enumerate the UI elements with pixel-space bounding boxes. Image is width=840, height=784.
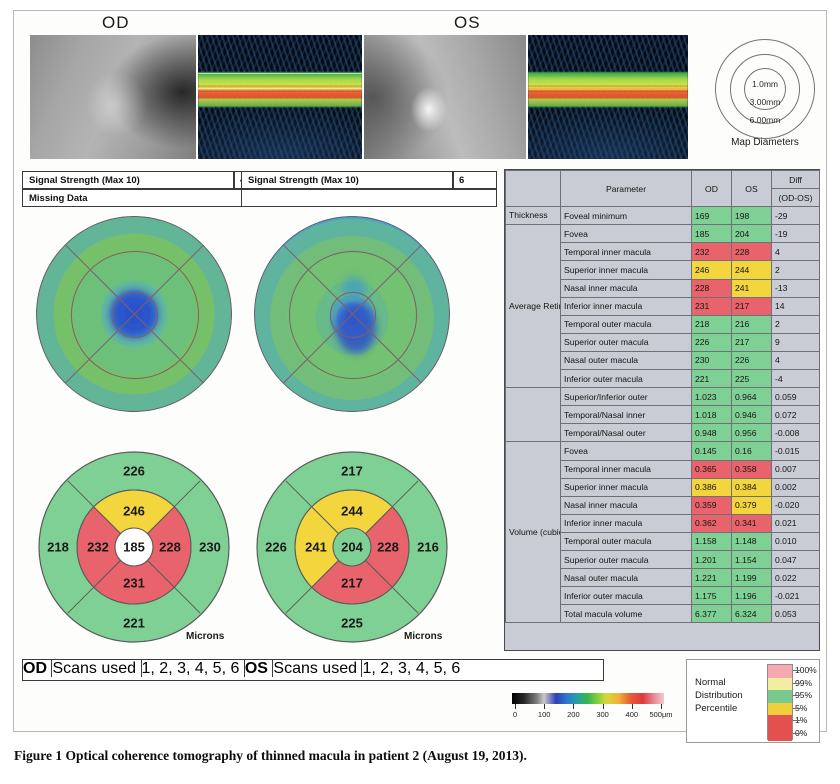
table-cell-parameter: Superior outer macula — [561, 550, 692, 568]
table-cell-parameter: Temporal outer macula — [561, 532, 692, 550]
bscan-band-choroid — [528, 98, 688, 107]
table-cell-diff: -0.020 — [772, 496, 820, 514]
os-signal-strength-value: 6 — [459, 175, 464, 186]
percentile-legend: Normal Distribution Percentile 100%99%95… — [686, 659, 820, 743]
table-cell-os: 216 — [732, 315, 772, 333]
od-inner-inferior-value: 231 — [123, 576, 145, 591]
diameter-label-inner: 1.0mm — [706, 79, 824, 89]
table-cell-od: 218 — [692, 315, 732, 333]
table-cell-diff: 14 — [772, 297, 820, 315]
percentile-band-99 — [768, 678, 792, 691]
od-inner-superior-value: 246 — [123, 504, 145, 519]
table-cell-os: 225 — [732, 370, 772, 388]
od-fundus-image — [30, 35, 196, 159]
table-cell-od: 232 — [692, 243, 732, 261]
table-cell-parameter: Total macula volume — [561, 605, 692, 623]
percentile-color-stack — [767, 664, 793, 740]
table-cell-os: 244 — [732, 261, 772, 279]
table-cell-od: 226 — [692, 333, 732, 351]
scans-od-eye-label: OD — [23, 660, 47, 677]
topo-rim — [254, 216, 450, 412]
table-cell-od: 0.359 — [692, 496, 732, 514]
percentile-band-95 — [768, 690, 792, 703]
table-cell-diff: 0.021 — [772, 514, 820, 532]
table-cell-os: 0.956 — [732, 424, 772, 442]
table-header-row: Parameter OD OS Diff — [506, 171, 820, 189]
table-cell-parameter: Nasal outer macula — [561, 351, 692, 369]
table-cell-diff: 0.007 — [772, 460, 820, 478]
table-cell-od: 1.018 — [692, 406, 732, 424]
table-cell-od: 246 — [692, 261, 732, 279]
percentile-title-line1: Normal — [695, 677, 726, 688]
color-scale-tick — [603, 704, 604, 709]
table-cell-parameter: Inferior outer macula — [561, 587, 692, 605]
percentile-tick — [793, 720, 800, 721]
table-cell-os: 1.199 — [732, 569, 772, 587]
color-scale-tick-label: 100 — [538, 710, 551, 719]
color-scale-tick-label: 200 — [567, 710, 580, 719]
table-cell-parameter: Fovea — [561, 442, 692, 460]
os-eye-label: OS — [454, 13, 481, 33]
table-cell-os: 226 — [732, 351, 772, 369]
os-outer-temporal-value: 216 — [417, 540, 439, 555]
od-signal-strength-label: Signal Strength (Max 10) — [29, 175, 140, 186]
table-cell-parameter: Temporal outer macula — [561, 315, 692, 333]
table-cell-os: 217 — [732, 333, 772, 351]
table-cell-parameter: Temporal inner macula — [561, 243, 692, 261]
table-cell-diff: -0.015 — [772, 442, 820, 460]
table-group-label: Average Retinal Thickness (microns) — [506, 225, 561, 388]
od-outer-superior-value: 226 — [123, 464, 145, 479]
table-cell-os: 1.154 — [732, 550, 772, 568]
table-cell-os: 241 — [732, 279, 772, 297]
os-signal-strength-label-cell: Signal Strength (Max 10) — [241, 171, 453, 189]
table-head: Parameter OD OS Diff (OD-OS) — [506, 171, 820, 207]
table-cell-diff: 2 — [772, 261, 820, 279]
table-cell-os: 0.358 — [732, 460, 772, 478]
table-row: Superior/Inferior outer1.0230.9640.059 — [506, 388, 820, 406]
table-cell-os: 1.196 — [732, 587, 772, 605]
od-inner-temporal-value: 232 — [87, 540, 109, 555]
table-cell-os: 198 — [732, 207, 772, 225]
table-cell-od: 0.362 — [692, 514, 732, 532]
od-missing-data-cell: Missing Data — [22, 189, 278, 207]
table-cell-os: 217 — [732, 297, 772, 315]
od-inner-nasal-value: 228 — [159, 540, 181, 555]
table-cell-parameter: Superior inner macula — [561, 261, 692, 279]
color-scale-tick — [544, 704, 545, 709]
table-cell-od: 230 — [692, 351, 732, 369]
bscan-band-rpe — [198, 91, 362, 98]
table-cell-diff: -19 — [772, 225, 820, 243]
figure-caption: Figure 1 Optical coherence tomography of… — [14, 748, 814, 764]
scans-used-bar: OD Scans used 1, 2, 3, 4, 5, 6 OS Scans … — [22, 659, 604, 681]
os-inner-nasal-value: 241 — [305, 540, 327, 555]
os-inner-inferior-value: 217 — [341, 576, 363, 591]
table-cell-od: 1.201 — [692, 550, 732, 568]
scans-os-eye-label: OS — [244, 660, 268, 677]
table-cell-os: 6.324 — [732, 605, 772, 623]
table-cell-diff: 0.047 — [772, 550, 820, 568]
table-cell-diff: -0.021 — [772, 587, 820, 605]
thickness-color-scale: 0100200300400500µm — [512, 693, 682, 731]
table-cell-od: 1.221 — [692, 569, 732, 587]
percentile-tick — [793, 733, 800, 734]
os-outer-superior-value: 217 — [341, 464, 363, 479]
table-cell-od: 0.386 — [692, 478, 732, 496]
scans-os-label: Scans used — [272, 660, 357, 677]
table-cell-parameter: Nasal inner macula — [561, 279, 692, 297]
header-group-blank — [506, 171, 561, 207]
percentile-tick — [793, 670, 800, 671]
table-cell-od: 1.175 — [692, 587, 732, 605]
color-scale-tick-label: 300 — [596, 710, 609, 719]
color-scale-tick-labels: 0100200300400500µm — [504, 710, 684, 722]
percentile-tick — [793, 683, 800, 684]
table-cell-parameter: Superior/Inferior outer — [561, 388, 692, 406]
table-cell-diff: -4 — [772, 370, 820, 388]
table-cell-parameter: Inferior inner macula — [561, 514, 692, 532]
missing-data-label: Missing Data — [29, 193, 88, 204]
table-cell-diff: 4 — [772, 243, 820, 261]
os-thickness-topo-map — [254, 216, 450, 412]
od-eye-label: OD — [102, 13, 130, 33]
scans-od-value: 1, 2, 3, 4, 5, 6 — [141, 660, 240, 677]
os-units-label: Microns — [404, 631, 442, 642]
table-cell-parameter: Inferior outer macula — [561, 370, 692, 388]
os-bscan-image — [528, 35, 688, 159]
percentile-title-line3: Percentile — [695, 703, 737, 714]
scans-os-value: 1, 2, 3, 4, 5, 6 — [361, 660, 460, 677]
table-cell-os: 204 — [732, 225, 772, 243]
os-fundus-image — [364, 35, 526, 159]
color-scale-tick — [632, 704, 633, 709]
table-row: ThicknessFoveal minimum169198-29 — [506, 207, 820, 225]
color-scale-tick-label: 500µm — [649, 710, 672, 719]
topo-rim — [36, 216, 232, 412]
table-cell-diff: 0.002 — [772, 478, 820, 496]
table-cell-os: 0.379 — [732, 496, 772, 514]
percentile-band-1 — [768, 715, 792, 728]
percentile-tick — [793, 695, 800, 696]
report-sheet: OD OS — [13, 10, 827, 732]
os-inner-superior-value: 244 — [341, 504, 363, 519]
table-cell-od: 0.948 — [692, 424, 732, 442]
color-scale-ticks — [512, 704, 664, 709]
percentile-band-0 — [768, 728, 792, 741]
table-cell-od: 228 — [692, 279, 732, 297]
eye-labels-row: OD OS — [14, 13, 828, 37]
od-outer-inferior-value: 221 — [123, 616, 145, 631]
oct-image-strip — [22, 35, 820, 159]
od-units-label: Microns — [186, 631, 224, 642]
table-cell-parameter: Nasal inner macula — [561, 496, 692, 514]
header-diff: Diff — [772, 171, 820, 189]
od-outer-nasal-value: 230 — [199, 540, 221, 555]
map-diameters-title: Map Diameters — [706, 137, 824, 148]
table-cell-os: 0.16 — [732, 442, 772, 460]
od-outer-temporal-value: 218 — [47, 540, 69, 555]
diameter-label-outer: 6.00mm — [706, 115, 824, 125]
table-cell-od: 185 — [692, 225, 732, 243]
bscan-caliper-line-top — [198, 73, 362, 74]
table-cell-od: 6.377 — [692, 605, 732, 623]
bscan-caliper-line-bottom — [198, 88, 362, 89]
table-cell-parameter: Inferior inner macula — [561, 297, 692, 315]
percentile-band-5 — [768, 703, 792, 716]
table-cell-parameter: Temporal inner macula — [561, 460, 692, 478]
map-diameters-legend: 1.0mm 3.00mm 6.00mm Map Diameters — [706, 37, 824, 165]
oct-report-page: OD OS — [0, 0, 840, 784]
os-outer-inferior-value: 225 — [341, 616, 363, 631]
table-cell-parameter: Nasal outer macula — [561, 569, 692, 587]
table-cell-od: 0.365 — [692, 460, 732, 478]
table-cell-od: 231 — [692, 297, 732, 315]
od-center-value: 185 — [123, 540, 145, 555]
table-cell-parameter: Fovea — [561, 225, 692, 243]
od-signal-strength-label-cell: Signal Strength (Max 10) — [22, 171, 234, 189]
bscan-band-nfl — [528, 72, 688, 86]
table-body: ThicknessFoveal minimum169198-29Average … — [506, 207, 820, 623]
table-cell-diff: 9 — [772, 333, 820, 351]
header-os: OS — [732, 171, 772, 207]
table-cell-os: 1.148 — [732, 532, 772, 550]
table-group-label: Thickness — [506, 207, 561, 225]
color-scale-tick — [573, 704, 574, 709]
table-cell-parameter: Foveal minimum — [561, 207, 692, 225]
od-sector-wheel: 185 246 232 228 231 226 218 230 221 Micr… — [36, 449, 232, 645]
scans-od-label: Scans used — [51, 660, 136, 677]
os-inner-temporal-value: 228 — [377, 540, 399, 555]
oct-parameter-table: Parameter OD OS Diff (OD-OS) ThicknessFo… — [505, 170, 820, 623]
table-group-label — [506, 388, 561, 442]
table-cell-diff: 2 — [772, 315, 820, 333]
od-thickness-topo-map — [36, 216, 232, 412]
bscan-band-rpe — [528, 91, 688, 98]
table-cell-diff: 0.022 — [772, 569, 820, 587]
table-cell-od: 0.145 — [692, 442, 732, 460]
table-cell-diff: 0.059 — [772, 388, 820, 406]
header-parameter: Parameter — [561, 171, 692, 207]
color-scale-tick — [515, 704, 516, 709]
table-group-label: Volume (cubic mm) — [506, 442, 561, 623]
os-center-value: 204 — [341, 540, 363, 555]
table-cell-diff: 0.053 — [772, 605, 820, 623]
percentile-tick — [793, 708, 800, 709]
table-row: Average Retinal Thickness (microns)Fovea… — [506, 225, 820, 243]
header-od: OD — [692, 171, 732, 207]
table-cell-od: 221 — [692, 370, 732, 388]
table-cell-os: 228 — [732, 243, 772, 261]
percentile-title-line2: Distribution — [695, 690, 743, 701]
percentile-band-100 — [768, 665, 792, 678]
os-signal-strength-label: Signal Strength (Max 10) — [248, 175, 359, 186]
percentile-labels: 100%99%95%5%1%0% — [795, 660, 835, 744]
table-cell-os: 0.384 — [732, 478, 772, 496]
table-cell-diff: 0.072 — [772, 406, 820, 424]
os-sector-wheel: 204 244 241 228 217 217 226 216 225 Micr… — [254, 449, 450, 645]
color-scale-tick-label: 0 — [513, 710, 517, 719]
table-cell-diff: -0.008 — [772, 424, 820, 442]
table-cell-os: 0.341 — [732, 514, 772, 532]
table-cell-od: 1.023 — [692, 388, 732, 406]
table-cell-os: 0.964 — [732, 388, 772, 406]
bscan-band-choroid — [198, 98, 362, 107]
table-cell-parameter: Superior outer macula — [561, 333, 692, 351]
color-scale-tick — [661, 704, 662, 709]
os-missing-data-cell — [241, 189, 497, 207]
oct-parameter-table-wrap: Parameter OD OS Diff (OD-OS) ThicknessFo… — [504, 169, 820, 651]
header-diff-sub: (OD-OS) — [772, 189, 820, 207]
diameter-label-middle: 3.00mm — [706, 97, 824, 107]
os-outer-nasal-value: 226 — [265, 540, 287, 555]
od-bscan-image — [198, 35, 362, 159]
table-cell-diff: -29 — [772, 207, 820, 225]
table-cell-od: 169 — [692, 207, 732, 225]
color-scale-gradient — [512, 693, 664, 704]
table-cell-diff: -13 — [772, 279, 820, 297]
percentile-legend-title: Normal Distribution Percentile — [695, 676, 743, 715]
table-cell-od: 1.158 — [692, 532, 732, 550]
table-cell-parameter: Temporal/Nasal outer — [561, 424, 692, 442]
table-cell-parameter: Temporal/Nasal inner — [561, 406, 692, 424]
table-cell-diff: 0.010 — [772, 532, 820, 550]
table-cell-parameter: Superior inner macula — [561, 478, 692, 496]
table-cell-os: 0.946 — [732, 406, 772, 424]
os-signal-strength-value-cell: 6 — [453, 171, 497, 189]
color-scale-tick-label: 400 — [626, 710, 639, 719]
table-cell-diff: 4 — [772, 351, 820, 369]
table-row: Volume (cubic mm)Fovea0.1450.16-0.015 — [506, 442, 820, 460]
